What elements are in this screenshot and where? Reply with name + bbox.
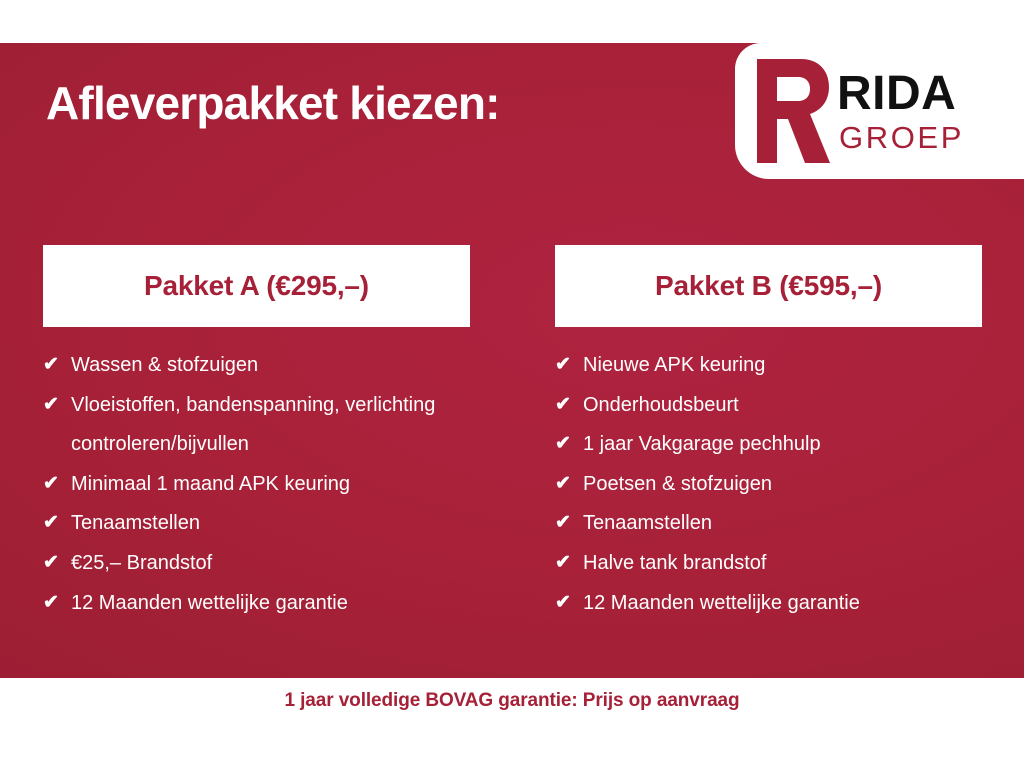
feature-list-item: ✔Poetsen & stofzuigen — [555, 465, 982, 505]
brand-logo-panel: RIDA GROEP — [735, 43, 1024, 179]
slide-root: Afleverpakket kiezen: RIDA GROEP Pakket … — [0, 0, 1024, 768]
feature-label: Tenaamstellen — [71, 504, 470, 544]
feature-list-item: ✔12 Maanden wettelijke garantie — [555, 584, 982, 624]
package-a-header-card: Pakket A (€295,–) — [43, 245, 470, 327]
feature-list-item: ✔12 Maanden wettelijke garantie — [43, 584, 470, 624]
checkmark-icon: ✔ — [555, 386, 583, 424]
feature-label: €25,– Brandstof — [71, 544, 470, 584]
checkmark-icon: ✔ — [555, 504, 583, 542]
package-b-header-card: Pakket B (€595,–) — [555, 245, 982, 327]
feature-label: Minimaal 1 maand APK keuring — [71, 465, 470, 505]
feature-list-item: ✔Nieuwe APK keuring — [555, 346, 982, 386]
feature-list-item: ✔Minimaal 1 maand APK keuring — [43, 465, 470, 505]
page-title: Afleverpakket kiezen: — [46, 78, 500, 129]
package-column-b: Pakket B (€595,–) ✔Nieuwe APK keuring✔On… — [555, 245, 982, 623]
feature-label: Nieuwe APK keuring — [583, 346, 982, 386]
checkmark-icon: ✔ — [43, 386, 71, 424]
feature-label: 1 jaar Vakgarage pechhulp — [583, 425, 982, 465]
feature-label: Poetsen & stofzuigen — [583, 465, 982, 505]
package-b-feature-list: ✔Nieuwe APK keuring✔Onderhoudsbeurt✔1 ja… — [555, 327, 982, 623]
feature-list-item: ✔€25,– Brandstof — [43, 544, 470, 584]
feature-list-item: ✔Tenaamstellen — [555, 504, 982, 544]
checkmark-icon: ✔ — [555, 544, 583, 582]
footer-note: 1 jaar volledige BOVAG garantie: Prijs o… — [284, 690, 739, 712]
feature-label: 12 Maanden wettelijke garantie — [583, 584, 982, 624]
footer-bar: 1 jaar volledige BOVAG garantie: Prijs o… — [0, 678, 1024, 768]
package-a-feature-list: ✔Wassen & stofzuigen✔Vloeistoffen, bande… — [43, 327, 470, 623]
feature-list-item: ✔1 jaar Vakgarage pechhulp — [555, 425, 982, 465]
feature-list-item: ✔Vloeistoffen, bandenspanning, verlichti… — [43, 386, 470, 465]
feature-label: Tenaamstellen — [583, 504, 982, 544]
checkmark-icon: ✔ — [43, 544, 71, 582]
feature-label: Vloeistoffen, bandenspanning, verlichtin… — [71, 386, 470, 465]
checkmark-icon: ✔ — [43, 584, 71, 622]
feature-label: Wassen & stofzuigen — [71, 346, 470, 386]
feature-list-item: ✔Wassen & stofzuigen — [43, 346, 470, 386]
brand-logo-wordmark: RIDA GROEP — [837, 70, 964, 153]
package-b-title: Pakket B (€595,–) — [655, 270, 882, 302]
package-a-title: Pakket A (€295,–) — [144, 270, 369, 302]
brand-name-primary: RIDA — [837, 70, 964, 118]
feature-list-item: ✔Halve tank brandstof — [555, 544, 982, 584]
checkmark-icon: ✔ — [43, 346, 71, 384]
checkmark-icon: ✔ — [555, 584, 583, 622]
checkmark-icon: ✔ — [43, 465, 71, 503]
checkmark-icon: ✔ — [43, 504, 71, 542]
brand-name-secondary: GROEP — [839, 122, 964, 153]
package-column-a: Pakket A (€295,–) ✔Wassen & stofzuigen✔V… — [43, 245, 470, 623]
feature-label: Halve tank brandstof — [583, 544, 982, 584]
checkmark-icon: ✔ — [555, 346, 583, 384]
feature-label: 12 Maanden wettelijke garantie — [71, 584, 470, 624]
feature-list-item: ✔Onderhoudsbeurt — [555, 386, 982, 426]
checkmark-icon: ✔ — [555, 425, 583, 463]
checkmark-icon: ✔ — [555, 465, 583, 503]
rida-r-monogram-icon — [753, 59, 831, 163]
feature-label: Onderhoudsbeurt — [583, 386, 982, 426]
feature-list-item: ✔Tenaamstellen — [43, 504, 470, 544]
